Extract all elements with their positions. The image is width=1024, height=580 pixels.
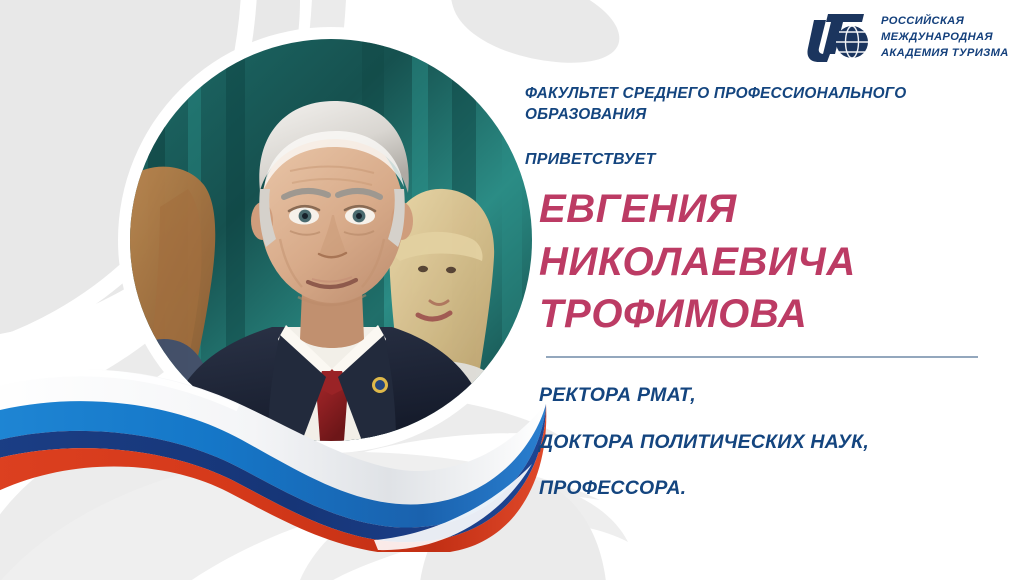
title-line-3: ПРОФЕССОРА. — [539, 479, 995, 499]
greets-label: ПРИВЕТСТВУЕТ — [525, 151, 995, 169]
name-line-1: ЕВГЕНИЯ — [539, 183, 995, 236]
honoree-name: ЕВГЕНИЯ НИКОЛАЕВИЧА ТРОФИМОВА — [539, 183, 995, 341]
logo-line-1: РОССИЙСКАЯ — [881, 14, 1009, 29]
rmat-monogram-globe-icon — [806, 12, 872, 62]
name-line-3: ТРОФИМОВА — [539, 288, 995, 341]
faculty-line-2: ОБРАЗОВАНИЯ — [525, 105, 995, 126]
title-line-1: РЕКТОРА РМАТ, — [539, 386, 995, 406]
faculty-line-1: ФАКУЛЬТЕТ СРЕДНЕГО ПРОФЕССИОНАЛЬНОГО — [525, 84, 995, 105]
faculty-heading: ФАКУЛЬТЕТ СРЕДНЕГО ПРОФЕССИОНАЛЬНОГО ОБР… — [525, 84, 995, 126]
rmat-logo-wordmark: РОССИЙСКАЯ МЕЖДУНАРОДНАЯ АКАДЕМИЯ ТУРИЗМ… — [881, 13, 1009, 60]
greeting-slide: РОССИЙСКАЯ МЕЖДУНАРОДНАЯ АКАДЕМИЯ ТУРИЗМ… — [0, 0, 1024, 580]
name-line-2: НИКОЛАЕВИЧА — [539, 236, 995, 289]
rmat-logo: РОССИЙСКАЯ МЕЖДУНАРОДНАЯ АКАДЕМИЯ ТУРИЗМ… — [806, 12, 1009, 62]
title-line-2: ДОКТОРА ПОЛИТИЧЕСКИХ НАУК, — [539, 433, 995, 453]
logo-line-3: АКАДЕМИЯ ТУРИЗМА — [881, 46, 1009, 61]
name-divider — [546, 356, 978, 358]
text-column: ФАКУЛЬТЕТ СРЕДНЕГО ПРОФЕССИОНАЛЬНОГО ОБР… — [525, 84, 995, 499]
honoree-titles: РЕКТОРА РМАТ, ДОКТОРА ПОЛИТИЧЕСКИХ НАУК,… — [539, 386, 995, 499]
russian-tricolor-ribbon — [0, 352, 564, 552]
logo-line-2: МЕЖДУНАРОДНАЯ — [881, 30, 1009, 45]
